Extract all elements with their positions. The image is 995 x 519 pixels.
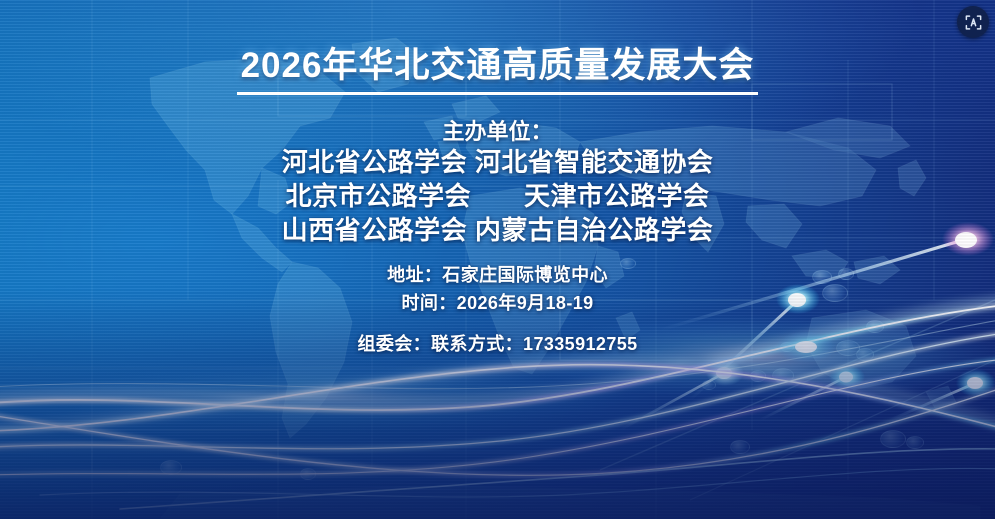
host-line-3: 山西省公路学会 内蒙古自治公路学会: [282, 214, 714, 248]
venue-address: 地址：石家庄国际博览中心: [387, 262, 608, 290]
host-line-1: 河北省公路学会 河北省智能交通协会: [282, 146, 714, 180]
event-info-block: 地址：石家庄国际博览中心 时间：2026年9月18-19: [387, 262, 608, 318]
host-organizations-block: 主办单位： 河北省公路学会 河北省智能交通协会 北京市公路学会 天津市公路学会 …: [282, 117, 714, 247]
scan-text-icon: [964, 13, 983, 32]
contact-block: 组委会：联系方式：17335912755: [357, 331, 637, 358]
host-label: 主办单位：: [282, 117, 714, 146]
organizing-committee-contact: 组委会：联系方式：17335912755: [357, 331, 637, 358]
host-line-2: 北京市公路学会 天津市公路学会: [282, 180, 714, 214]
event-date: 时间：2026年9月18-19: [387, 290, 608, 318]
conference-poster: 2026年华北交通高质量发展大会 主办单位： 河北省公路学会 河北省智能交通协会…: [0, 0, 995, 519]
page-title: 2026年华北交通高质量发展大会: [237, 46, 759, 95]
scan-text-button[interactable]: [957, 6, 989, 38]
poster-content: 2026年华北交通高质量发展大会 主办单位： 河北省公路学会 河北省智能交通协会…: [0, 0, 995, 519]
